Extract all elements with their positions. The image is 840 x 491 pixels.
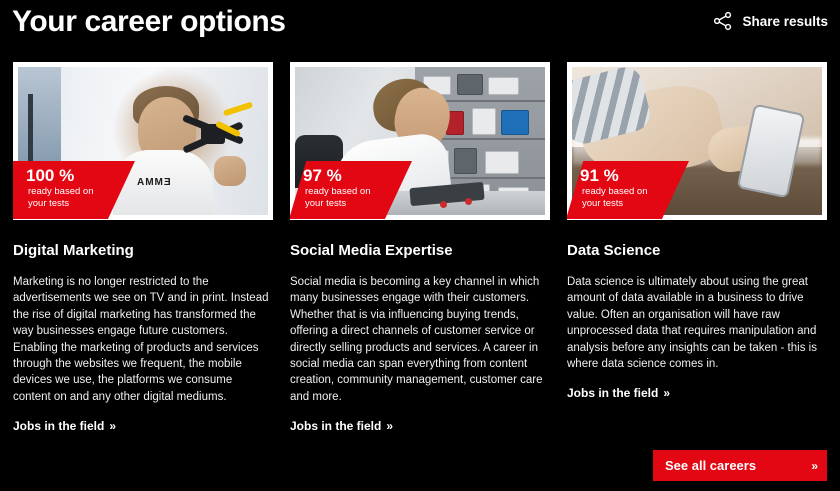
share-nodes-icon — [712, 10, 734, 32]
see-all-careers-button[interactable]: See all careers » — [653, 450, 827, 481]
career-options-page: Your career options Share results — [0, 0, 840, 491]
jobs-link-label: Jobs in the field — [567, 386, 658, 400]
double-chevron-right-icon: » — [109, 419, 114, 433]
photo-digital-marketing: EMMA — [18, 67, 268, 215]
share-results-button[interactable]: Share results — [712, 10, 828, 32]
career-card[interactable]: 97 % ready based on your tests Social Me… — [290, 62, 550, 435]
double-chevron-right-icon: » — [811, 459, 816, 473]
jobs-in-the-field-link[interactable]: Jobs in the field » — [567, 386, 668, 400]
card-title: Data Science — [567, 242, 827, 260]
card-image — [572, 67, 822, 215]
photo-social-media-expertise — [295, 67, 545, 215]
double-chevron-right-icon: » — [386, 419, 391, 433]
jobs-link-label: Jobs in the field — [290, 419, 381, 433]
jobs-in-the-field-link[interactable]: Jobs in the field » — [290, 419, 391, 433]
page-title: Your career options — [12, 2, 286, 42]
card-image: EMMA — [18, 67, 268, 215]
career-card[interactable]: 91 % ready based on your tests Data Scie… — [567, 62, 827, 435]
career-cards-row: EMMA 100 % ready based on your tests Dig… — [13, 62, 827, 435]
card-title: Digital Marketing — [13, 242, 273, 260]
card-description: Data science is ultimately about using t… — [567, 274, 827, 372]
share-results-label: Share results — [742, 14, 828, 29]
card-image — [295, 67, 545, 215]
card-image-frame: 91 % ready based on your tests — [567, 62, 827, 220]
card-image-frame: EMMA 100 % ready based on your tests — [13, 62, 273, 220]
jobs-in-the-field-link[interactable]: Jobs in the field » — [13, 419, 114, 433]
career-card[interactable]: EMMA 100 % ready based on your tests Dig… — [13, 62, 273, 435]
card-description: Marketing is no longer restricted to the… — [13, 274, 273, 405]
card-title: Social Media Expertise — [290, 242, 550, 260]
page-header: Your career options Share results — [0, 0, 840, 52]
photo-data-science — [572, 67, 822, 215]
card-image-frame: 97 % ready based on your tests — [290, 62, 550, 220]
card-description: Social media is becoming a key channel i… — [290, 274, 550, 405]
see-all-careers-label: See all careers — [665, 458, 756, 473]
double-chevron-right-icon: » — [663, 386, 668, 400]
jobs-link-label: Jobs in the field — [13, 419, 104, 433]
